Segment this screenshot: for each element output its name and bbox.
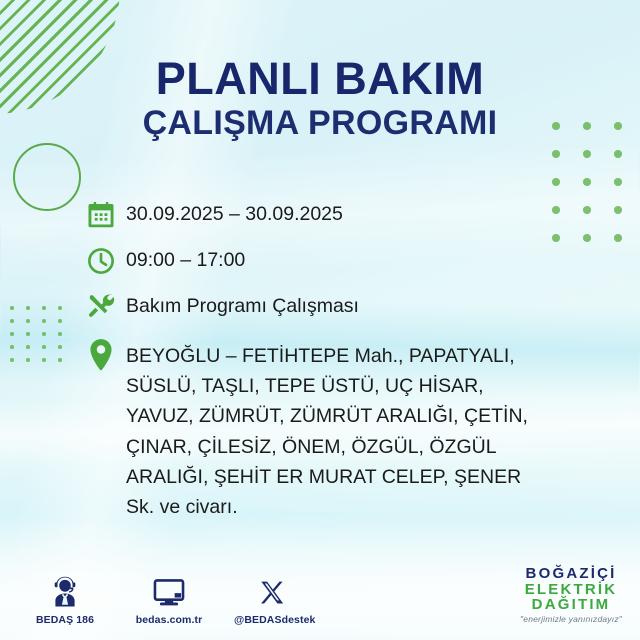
address-line: SÜSLÜ, TAŞLI, TEPE ÜSTÜ, UÇ HİSAR, <box>126 371 528 401</box>
calendar-icon <box>86 200 126 230</box>
clock-icon <box>86 246 126 276</box>
contact-x-account[interactable]: @BEDASdestek <box>234 574 312 626</box>
logo-line-dagitim: DAĞITIM <box>520 597 622 612</box>
info-row-time: 09:00 – 17:00 <box>86 246 606 276</box>
date-range-value: 30.09.2025 – 30.09.2025 <box>126 200 343 227</box>
address-line: Sk. ve civarı. <box>126 492 528 522</box>
logo-line-bogazici: BOĞAZİÇİ <box>520 566 622 581</box>
contact-website[interactable]: bedas.com.tr <box>130 574 208 626</box>
tools-icon <box>86 292 126 322</box>
call-center-agent-icon <box>26 574 104 608</box>
contact-call-center[interactable]: BEDAŞ 186 <box>26 574 104 626</box>
address-line: ÇINAR, ÇİLESİZ, ÖNEM, ÖZGÜL, ÖZGÜL <box>126 432 528 462</box>
work-type-value: Bakım Programı Çalışması <box>126 292 359 319</box>
info-row-date: 30.09.2025 – 30.09.2025 <box>86 200 606 230</box>
dot-grid-left <box>10 306 70 370</box>
page-title: PLANLI BAKIM <box>0 56 640 102</box>
monitor-icon <box>130 574 208 608</box>
address-line: BEYOĞLU – FETİHTEPE Mah., PAPATYALI, <box>126 341 528 371</box>
company-logo: BOĞAZİÇİ ELEKTRİK DAĞITIM "enerjimizle y… <box>520 566 622 624</box>
location-address-value: BEYOĞLU – FETİHTEPE Mah., PAPATYALI, SÜS… <box>126 338 528 522</box>
address-line: ARALIĞI, ŞEHİT ER MURAT CELEP, ŞENER <box>126 462 528 492</box>
poster-canvas: PLANLI BAKIM ÇALIŞMA PROGRAMI 30.09.2025… <box>0 0 640 640</box>
x-twitter-icon <box>234 574 312 608</box>
contact-channels: BEDAŞ 186 bedas.com.tr <box>26 574 312 626</box>
contact-label: BEDAŞ 186 <box>26 614 104 626</box>
logo-line-elektrik: ELEKTRİK <box>520 582 622 597</box>
poster-header: PLANLI BAKIM ÇALIŞMA PROGRAMI <box>0 56 640 142</box>
poster-footer: BEDAŞ 186 bedas.com.tr <box>0 554 640 640</box>
location-pin-icon <box>86 338 126 372</box>
time-range-value: 09:00 – 17:00 <box>126 246 245 273</box>
info-list: 30.09.2025 – 30.09.2025 09:00 – 17:00 Ba… <box>86 200 606 538</box>
contact-label: @BEDASdestek <box>234 614 312 626</box>
address-line: YAVUZ, ZÜMRÜT, ZÜMRÜT ARALIĞI, ÇETİN, <box>126 401 528 431</box>
info-row-work: Bakım Programı Çalışması <box>86 292 606 322</box>
info-row-location: BEYOĞLU – FETİHTEPE Mah., PAPATYALI, SÜS… <box>86 338 606 522</box>
logo-tagline: "enerjimizle yanınızdayız" <box>520 615 622 624</box>
page-subtitle: ÇALIŞMA PROGRAMI <box>0 106 640 142</box>
circle-outline-decoration <box>13 143 81 211</box>
contact-label: bedas.com.tr <box>130 614 208 626</box>
